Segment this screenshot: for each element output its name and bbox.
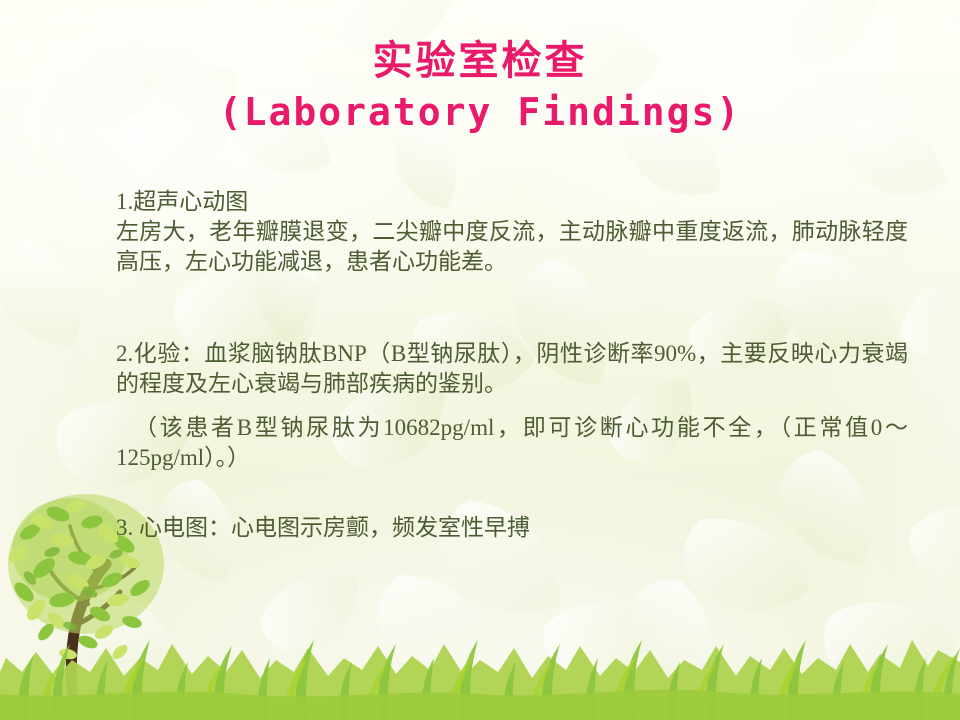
section-3-text: 3. 心电图：心电图示房颤，频发室性早搏 [116, 513, 908, 543]
slide-canvas: 实验室检查 (Laboratory Findings) 1.超声心动图 左房大，… [0, 0, 960, 720]
page-title-chinese: 实验室检查 [0, 36, 960, 86]
section-1-heading: 1.超声心动图 [116, 186, 908, 217]
grass-border [0, 610, 960, 720]
spacer-3 [116, 473, 908, 513]
section-2-note: （该患者B型钠尿肽为10682pg/ml，即可诊断心功能不全，（正常值0～125… [116, 413, 908, 473]
page-title-english: (Laboratory Findings) [0, 86, 960, 138]
body-content: 1.超声心动图 左房大，老年瓣膜退变，二尖瓣中度反流，主动脉瓣中重度返流，肺动脉… [116, 186, 908, 543]
section-2-text: 2.化验：血浆脑钠肽BNP（B型钠尿肽），阴性诊断率90%，主要反映心力衰竭的程… [116, 339, 908, 399]
spacer-1 [116, 277, 908, 339]
section-1-text: 左房大，老年瓣膜退变，二尖瓣中度反流，主动脉瓣中重度返流，肺动脉轻度高压，左心功… [116, 217, 908, 277]
title-block: 实验室检查 (Laboratory Findings) [0, 36, 960, 138]
spacer-2 [116, 399, 908, 413]
